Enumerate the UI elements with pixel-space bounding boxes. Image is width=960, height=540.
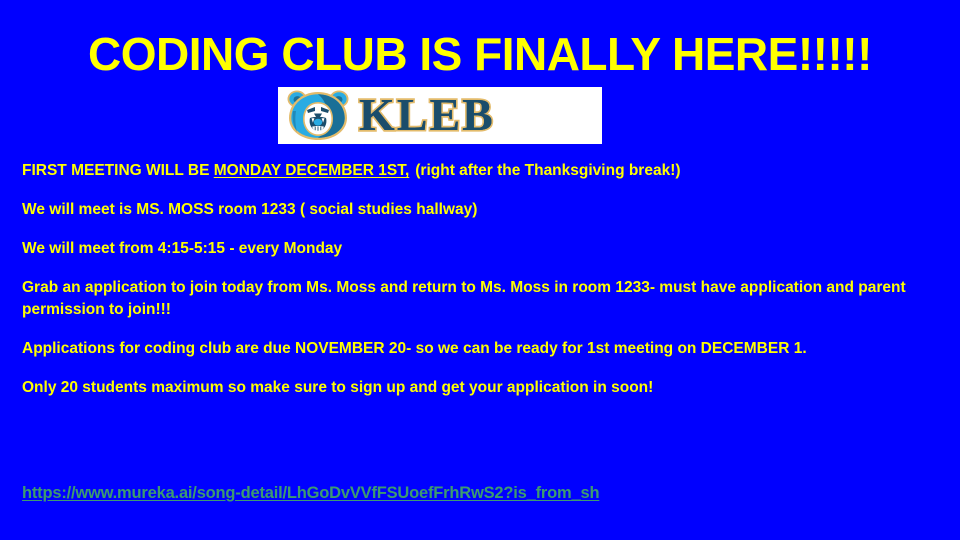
svg-text:KLEB: KLEB xyxy=(359,92,495,140)
kleb-logo: KLEB KLEB xyxy=(278,87,602,144)
first-meeting-lead: FIRST MEETING WILL BE xyxy=(22,162,214,179)
link-row: https://www.mureka.ai/song-detail/LhGoDv… xyxy=(22,484,922,503)
first-meeting-trail: (right after the Thanksgiving break!) xyxy=(415,162,680,179)
paragraph-application-instructions: Grab an application to join today from M… xyxy=(22,277,922,321)
paragraph-meeting-time: We will meet from 4:15-5:15 - every Mond… xyxy=(22,238,922,260)
mureka-song-link[interactable]: https://www.mureka.ai/song-detail/LhGoDv… xyxy=(22,484,599,503)
slide-canvas: CODING CLUB IS FINALLY HERE!!!!! xyxy=(0,0,960,540)
kleb-wordmark: KLEB KLEB xyxy=(356,92,602,140)
first-meeting-date: MONDAY DECEMBER 1ST, xyxy=(214,162,410,179)
page-title: CODING CLUB IS FINALLY HERE!!!!! xyxy=(0,30,960,78)
paragraph-first-meeting: FIRST MEETING WILL BE MONDAY DECEMBER 1S… xyxy=(22,160,922,182)
paragraph-location: We will meet is MS. MOSS room 1233 ( soc… xyxy=(22,199,922,221)
bear-head-icon xyxy=(284,89,352,142)
paragraph-capacity-notice: Only 20 students maximum so make sure to… xyxy=(22,377,922,399)
paragraph-application-deadline: Applications for coding club are due NOV… xyxy=(22,338,922,360)
announcement-body: FIRST MEETING WILL BE MONDAY DECEMBER 1S… xyxy=(22,160,922,416)
